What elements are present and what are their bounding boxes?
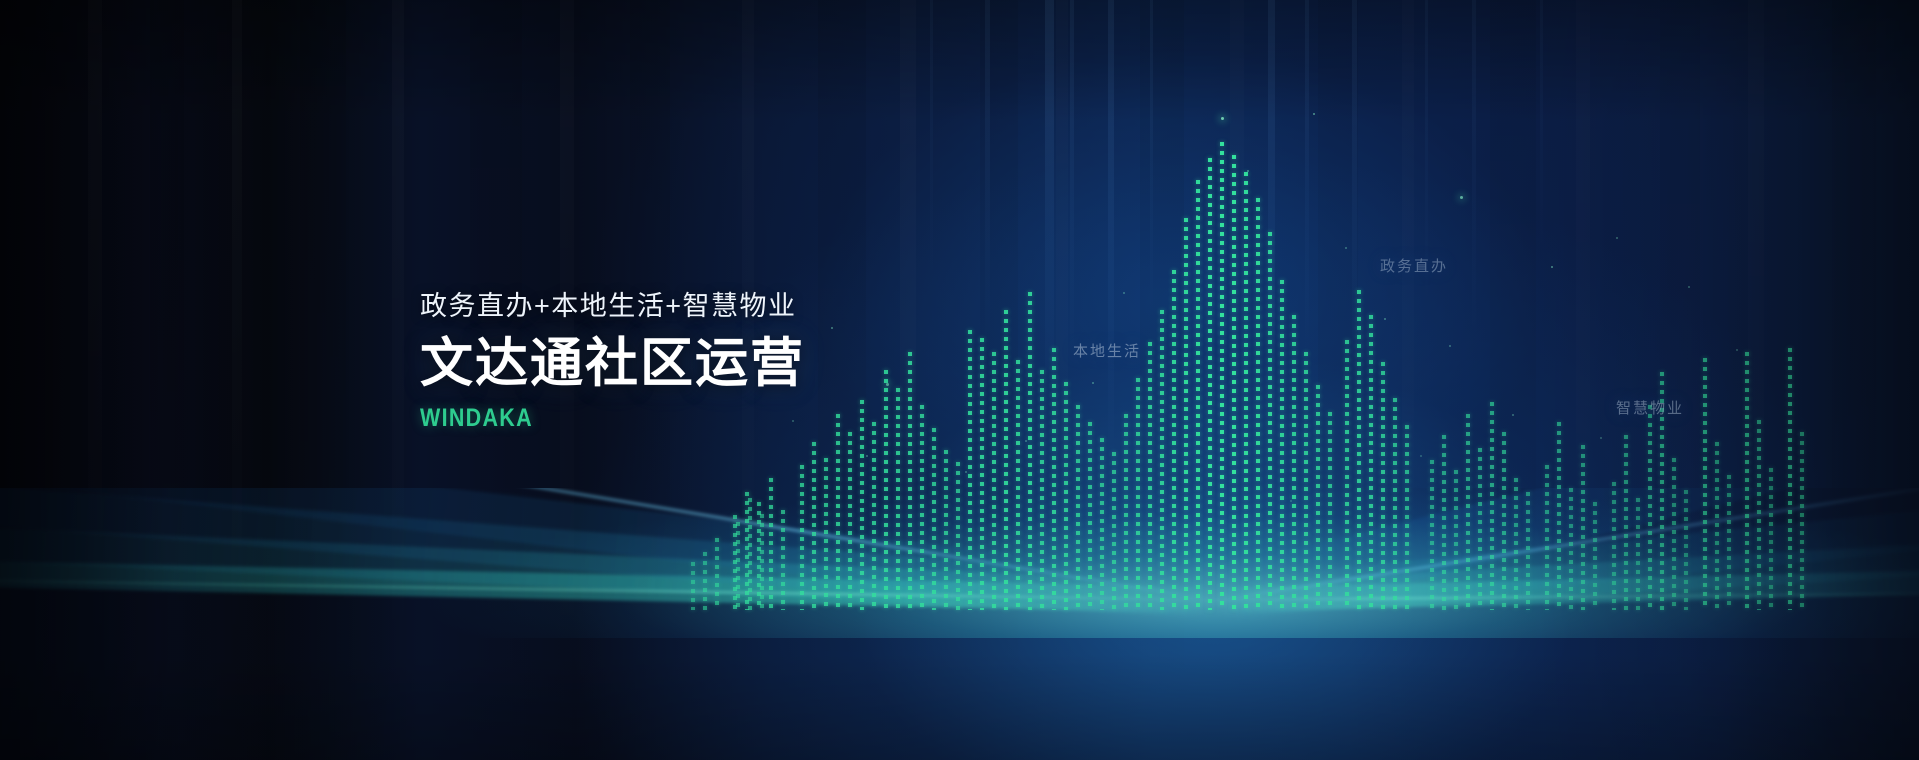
horizon-glow [0,488,1919,638]
light-beam [1150,0,1153,380]
hero-text-block: 政务直办+本地生活+智慧物业 文达通社区运营 WINDAKA [420,290,805,433]
hero-title: 文达通社区运营 [420,334,805,393]
sparkle-dot [1196,215,1198,217]
hero-banner: 政务直办本地生活智慧物业 政务直办+本地生活+智慧物业 文达通社区运营 WIND… [0,0,1919,760]
sparkle-dot [1551,266,1553,268]
perspective-ray [0,559,1215,613]
sparkle-dot [1313,113,1315,115]
sparkle-dot [866,455,868,457]
sparkle-dot [1345,247,1347,249]
sparkle-dot [1123,292,1125,294]
light-beam [1425,0,1428,360]
sparkle-dot [1221,117,1224,120]
floating-label-1: 政务直办 [1380,255,1448,276]
perspective-ray [1213,506,1919,620]
perspective-ray [0,578,1215,601]
sparkle-dot [886,383,889,386]
floating-label-2: 本地生活 [1073,340,1141,361]
perspective-ground [0,488,1919,760]
light-beam [1540,0,1543,300]
light-beam [930,0,933,330]
sparkle-dot [1460,196,1463,199]
sparkle-dot [965,471,967,473]
sparkle-dot [1600,437,1602,439]
sparkle-dot [1247,170,1249,172]
perspective-ray [0,488,1217,620]
perspective-ray [1208,488,1919,629]
perspective-ray [1215,569,1919,612]
sparkle-dot [831,327,833,329]
light-beam [1268,0,1275,520]
light-beam [1045,0,1054,500]
sparkle-dot [1688,286,1690,288]
light-beam [985,0,990,420]
sparkle-dot [1384,318,1386,320]
windaka-wordmark: WINDAKA [420,404,751,433]
sparkle-dot [1512,414,1514,416]
light-beam [1472,0,1476,400]
floating-label-3: 智慧物业 [1616,397,1684,418]
perspective-ray [1214,542,1919,616]
perspective-ray [1215,488,1919,601]
sparkle-dot [1449,345,1451,347]
sparkle-dot [1420,455,1422,457]
light-beam [1305,0,1309,430]
perspective-ray [0,523,1216,617]
light-beam [1352,0,1357,470]
perspective-ray [0,488,1218,623]
perspective-ray [0,488,1215,601]
sparkle-dot [1736,349,1738,351]
light-beam [1108,0,1114,560]
perspective-ray [1215,592,1919,601]
sparkle-dot [1092,382,1094,384]
sparkle-dot [1025,440,1027,442]
light-beam [1070,0,1074,430]
sparkle-dot [1616,237,1618,239]
hero-subtitle: 政务直办+本地生活+智慧物业 [420,290,805,324]
